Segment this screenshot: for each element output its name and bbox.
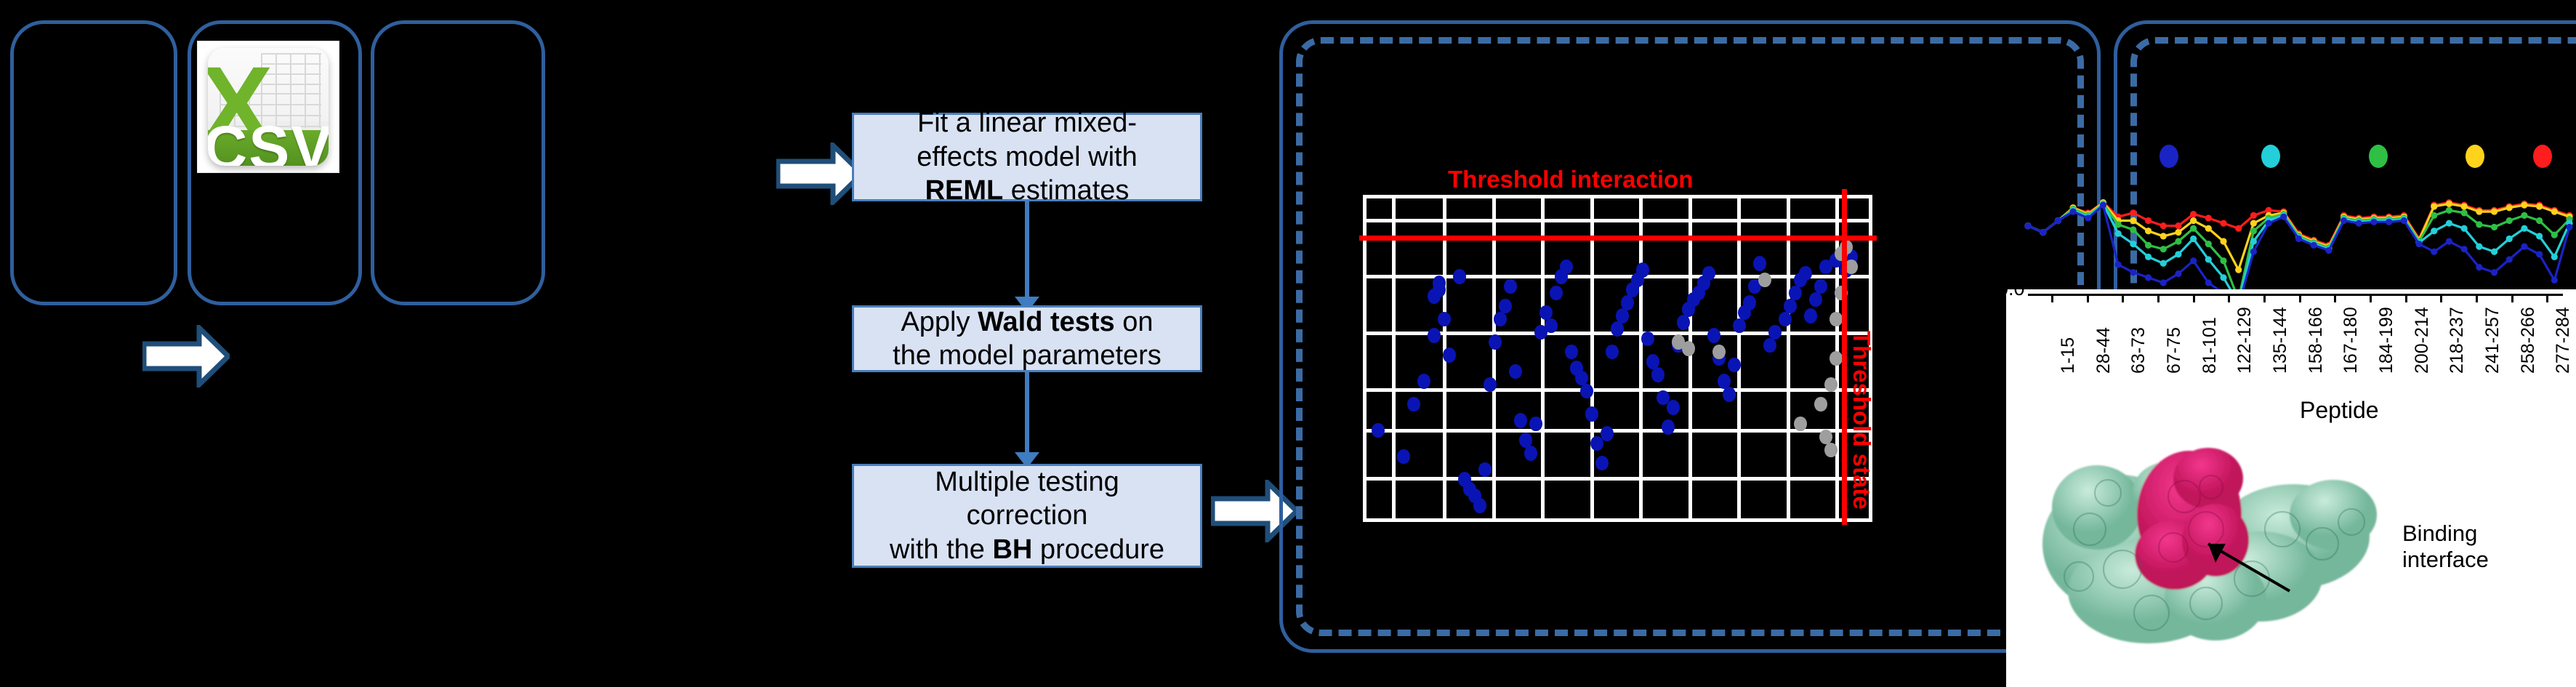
peptide-series-point [2431, 249, 2437, 255]
peptide-series-point [2160, 279, 2167, 286]
scatter-point [1651, 367, 1665, 382]
peptide-tick-label: 158-166 [2306, 307, 2327, 374]
peptide-series-point [2415, 241, 2422, 247]
scatter-point [1560, 260, 1573, 275]
y-tick-label-zero: 0.0 [2006, 289, 2025, 300]
peptide-series-point [2160, 260, 2167, 267]
step3-bold: BH [992, 534, 1032, 565]
peptide-series-point [2190, 211, 2197, 217]
peptide-series-point [2280, 214, 2287, 220]
peptide-series-point [2491, 224, 2497, 230]
peptide-structure-card: 0.0 1-1528-4463-7367-7581-101122-129135-… [2006, 289, 2576, 687]
panel-input [10, 20, 177, 305]
peptide-series-point [2220, 238, 2226, 244]
peptide-series-point [2521, 202, 2527, 209]
scatter-point [1489, 334, 1502, 350]
scatter-point [1565, 345, 1578, 360]
legend-dot [2261, 145, 2280, 168]
peptide-series-point [2250, 238, 2257, 244]
peptide-tick-label: 67-75 [2164, 327, 2185, 374]
peptide-series-point [2175, 229, 2181, 236]
peptide-series-point [2551, 208, 2558, 214]
panel-analysis [371, 20, 545, 305]
step2-bold: Wald tests [978, 307, 1115, 337]
peptide-series-point [2145, 274, 2152, 281]
peptide-series-point [2250, 228, 2257, 234]
step1-line1: Fit a linear mixed- [917, 108, 1137, 138]
peptide-series-point [2145, 254, 2152, 260]
peptide-series-point [2040, 229, 2046, 236]
scatter-point [1707, 328, 1720, 343]
peptide-series-point [2175, 270, 2181, 277]
threshold-state-line [1842, 189, 1847, 525]
peptide-series-point [2024, 222, 2031, 229]
scatter-point [1830, 312, 1843, 327]
peptide-series-point [2536, 251, 2543, 257]
scatter-point [1809, 292, 1822, 308]
flowchart-canvas: X CSV Fit a linear mixed- effects model … [0, 0, 2576, 687]
peptide-series-point [2266, 220, 2272, 226]
peptide-tick-label: 258-266 [2518, 307, 2539, 374]
peptide-series-point [2250, 212, 2257, 219]
protein-structure-image [2021, 420, 2413, 660]
peptide-series-point [2536, 203, 2543, 209]
peptide-tick-label: 184-199 [2376, 307, 2397, 374]
peptide-series-point [2491, 208, 2497, 214]
step2-line2: the model parameters [893, 340, 1162, 371]
scatter-point [1585, 406, 1598, 422]
legend-dot [2160, 145, 2178, 168]
peptide-series-point [2250, 249, 2257, 255]
peptide-series-point [2521, 244, 2527, 250]
scatter-point [1784, 299, 1797, 314]
threshold-state-label: Threshold state [1848, 331, 1875, 510]
peptide-tick-label: 167-180 [2340, 307, 2362, 374]
scatter-point [1499, 299, 1512, 314]
peptide-tick-label: 200-214 [2412, 307, 2433, 374]
peptide-series-point [2085, 214, 2091, 221]
scatter-point [1824, 443, 1838, 458]
scatter-point [1753, 256, 1766, 271]
peptide-series-point [2506, 217, 2513, 224]
peptide-series-point [2521, 212, 2527, 219]
connector-step1-step2 [1025, 201, 1029, 300]
scatter-point [1484, 377, 1497, 393]
scatter-point [1804, 308, 1817, 324]
peptide-series-point [2491, 269, 2497, 276]
peptide-series-point [2220, 220, 2226, 226]
peptide-series-point [2476, 244, 2482, 250]
scatter-point [1799, 266, 1812, 281]
peptide-tick-label: 241-257 [2482, 307, 2503, 374]
binding-label-line2: interface [2402, 547, 2489, 572]
peptide-series-point [2461, 225, 2468, 232]
scatter-point [1641, 332, 1654, 347]
peptide-series-point [2205, 256, 2212, 262]
legend-dot [2533, 145, 2552, 168]
scatter-point [1712, 345, 1726, 360]
scatter-point [1794, 417, 1807, 432]
threshold-interaction-label: Threshold interaction [1448, 166, 1693, 193]
peptide-chart-legend [2006, 142, 2576, 171]
peptide-series-point [2130, 209, 2136, 216]
peptide-series-point [2506, 204, 2513, 211]
scatter-point [1662, 419, 1675, 435]
csv-icon-body: X CSV [208, 48, 329, 166]
scatter-point [1433, 276, 1446, 291]
scatter-point [1580, 384, 1593, 399]
step3-line1: Multiple testing [935, 467, 1119, 497]
scatter-point [1814, 397, 1827, 412]
scatter-point [1611, 321, 1624, 337]
peptide-tick-label: 122-129 [2234, 307, 2255, 374]
peptide-line-chart [2006, 171, 2576, 309]
scatter-point [1733, 318, 1746, 334]
peptide-tick-label: 135-144 [2270, 307, 2291, 374]
peptide-series-point [2340, 217, 2347, 224]
scatter-point [1723, 387, 1736, 402]
peptide-series-point [2205, 214, 2212, 221]
step2-suffix: on [1115, 307, 1154, 337]
scatter-point [1814, 279, 1827, 294]
scatter-point [1702, 266, 1715, 281]
peptide-series-point [2235, 267, 2242, 273]
scatter-point [1438, 312, 1451, 327]
scatter-point [1407, 397, 1420, 412]
peptide-series-point [2506, 236, 2513, 242]
step3-line3-prefix: with the [890, 534, 993, 565]
peptide-series-point [2386, 219, 2392, 225]
peptide-series-point [2069, 208, 2076, 214]
scatter-point [1529, 417, 1542, 432]
connector-step2-step3 [1025, 372, 1029, 456]
scatter-point [1636, 262, 1649, 278]
peptide-series-point [2115, 261, 2122, 268]
peptide-series-point [2175, 251, 2181, 257]
peptide-series-point [2491, 249, 2497, 255]
peptide-series-point [2461, 246, 2468, 252]
scatter-point [1504, 279, 1517, 294]
scatter-point [1682, 341, 1695, 356]
scatter-point [1428, 328, 1441, 343]
peptide-series-point [2220, 274, 2226, 281]
step1-bold: REML [925, 175, 1004, 206]
scatter-point [1616, 308, 1629, 324]
peptide-series-point [2461, 203, 2468, 209]
peptide-tick-label: 277-284 [2553, 307, 2574, 374]
arrow-input-to-data [142, 325, 230, 387]
excel-x-glyph: X [212, 50, 261, 103]
scatter-point [1768, 325, 1782, 340]
peptide-series-point [2175, 238, 2181, 244]
peptide-series-point [2175, 222, 2181, 229]
peptide-series-point [2476, 208, 2482, 214]
peptide-series-point [2431, 228, 2437, 234]
peptide-series-point [2566, 224, 2572, 230]
peptide-series-point [2551, 277, 2558, 284]
threshold-interaction-line [1359, 236, 1877, 241]
volcano-plot [1363, 195, 1872, 522]
scatter-point [1606, 345, 1619, 360]
csv-label-band: CSV [208, 130, 329, 166]
peptide-series-point [2235, 225, 2242, 232]
step-fit-model[interactable]: Fit a linear mixed- effects model with R… [852, 113, 1202, 201]
scatter-point [1509, 364, 1522, 379]
scatter-point [1397, 449, 1410, 465]
scatter-point [1545, 318, 1558, 334]
peptide-tick-label: 28-44 [2093, 327, 2114, 374]
scatter-point [1743, 295, 1756, 310]
scatter-point [1789, 286, 1802, 301]
peptide-series-point [2431, 212, 2437, 219]
peptide-series-point [2295, 236, 2302, 242]
scatter-point [1677, 315, 1690, 330]
scatter-point [1550, 286, 1563, 301]
peptide-series-point [2115, 230, 2122, 237]
peptide-series-point [2476, 221, 2482, 228]
peptide-series-point [2190, 236, 2197, 242]
peptide-series-point [2130, 241, 2136, 247]
peptide-series-point [2536, 233, 2543, 239]
peptide-series-point [2356, 220, 2362, 226]
peptide-series-point [2190, 225, 2197, 232]
scatter-point [1758, 273, 1771, 288]
scatter-point [1763, 338, 1776, 353]
scatter-point [1443, 347, 1456, 363]
peptide-series-line [2028, 204, 2569, 303]
step-wald-tests[interactable]: Apply Wald tests on the model parameters [852, 305, 1202, 372]
csv-file-icon[interactable]: X CSV [198, 41, 339, 172]
step3-line2: correction [967, 500, 1088, 531]
peptide-series-point [2100, 202, 2106, 209]
peptide-series-point [2205, 279, 2212, 286]
binding-interface-label: Binding interface [2402, 521, 2489, 572]
peptide-series-point [2536, 217, 2543, 224]
scatter-point [1830, 351, 1843, 366]
scatter-point [1595, 456, 1609, 471]
peptide-series-point [2325, 247, 2332, 254]
scatter-point [1524, 446, 1537, 461]
scatter-point [1601, 426, 1614, 441]
binding-label-line1: Binding [2402, 521, 2477, 546]
step-bh-correction[interactable]: Multiple testing correction with the BH … [852, 464, 1202, 568]
step1-line3-tail: estimates [1003, 175, 1129, 206]
scatter-point [1372, 423, 1385, 438]
peptide-series-point [2551, 232, 2558, 238]
scatter-point [1494, 312, 1507, 327]
peptide-series-point [2160, 222, 2167, 229]
scatter-point [1824, 377, 1838, 393]
peptide-series-point [2461, 209, 2468, 216]
scatter-point [1779, 312, 1792, 327]
peptide-series-point [2370, 219, 2377, 225]
peptide-series-point [2521, 225, 2527, 232]
scatter-point [1417, 374, 1430, 389]
peptide-series-point [2401, 217, 2407, 224]
step1-line2: effects model with [917, 142, 1137, 172]
peptide-series-point [2446, 238, 2452, 244]
peptide-series-point [2130, 217, 2136, 224]
scatter-point [1667, 400, 1680, 415]
peptide-series-point [2551, 254, 2558, 260]
peptide-series-point [2446, 201, 2452, 207]
scatter-point [1478, 462, 1492, 478]
peptide-series-point [2476, 264, 2482, 270]
scatter-point [1728, 358, 1741, 373]
scatter-point [1453, 269, 1466, 284]
peptide-tick-label: 63-73 [2128, 327, 2149, 374]
peptide-tick-label: 218-237 [2447, 307, 2468, 374]
peptide-series-point [2446, 207, 2452, 214]
peptide-series-point [2130, 269, 2136, 276]
scatter-point [1473, 498, 1486, 513]
peptide-series-point [2055, 217, 2061, 224]
peptide-series-point [2160, 233, 2167, 239]
peptide-series-point [2250, 220, 2257, 226]
peptide-tick-labels: 1-1528-4463-7367-7581-101122-129135-1441… [2006, 301, 2576, 388]
peptide-series-point [2130, 226, 2136, 233]
arrow-data-to-analysis [776, 142, 864, 205]
peptide-tick-label: 1-15 [2058, 337, 2079, 374]
scatter-point [1621, 295, 1634, 310]
csv-label: CSV [208, 113, 329, 166]
scatter-point [1514, 413, 1527, 428]
peptide-series-point [2145, 217, 2152, 224]
peptide-series-point [2220, 257, 2226, 264]
peptide-series-point [2506, 256, 2513, 262]
legend-dot [2466, 145, 2484, 168]
peptide-series-point [2145, 228, 2152, 234]
peptide-series-point [2190, 257, 2197, 264]
peptide-tick-label: 81-101 [2199, 317, 2221, 374]
peptide-series-point [2446, 220, 2452, 226]
legend-dot [2369, 145, 2388, 168]
peptide-series-point [2311, 242, 2317, 249]
peptide-series-point [2160, 246, 2167, 252]
peptide-series-point [2145, 242, 2152, 249]
peptide-series-point [2205, 225, 2212, 232]
step2-prefix: Apply [901, 307, 978, 337]
peptide-series-point [2205, 241, 2212, 247]
step3-line3-suffix: procedure [1032, 534, 1164, 565]
peptide-series-point [2190, 217, 2197, 224]
peptide-series-point [2431, 203, 2437, 209]
